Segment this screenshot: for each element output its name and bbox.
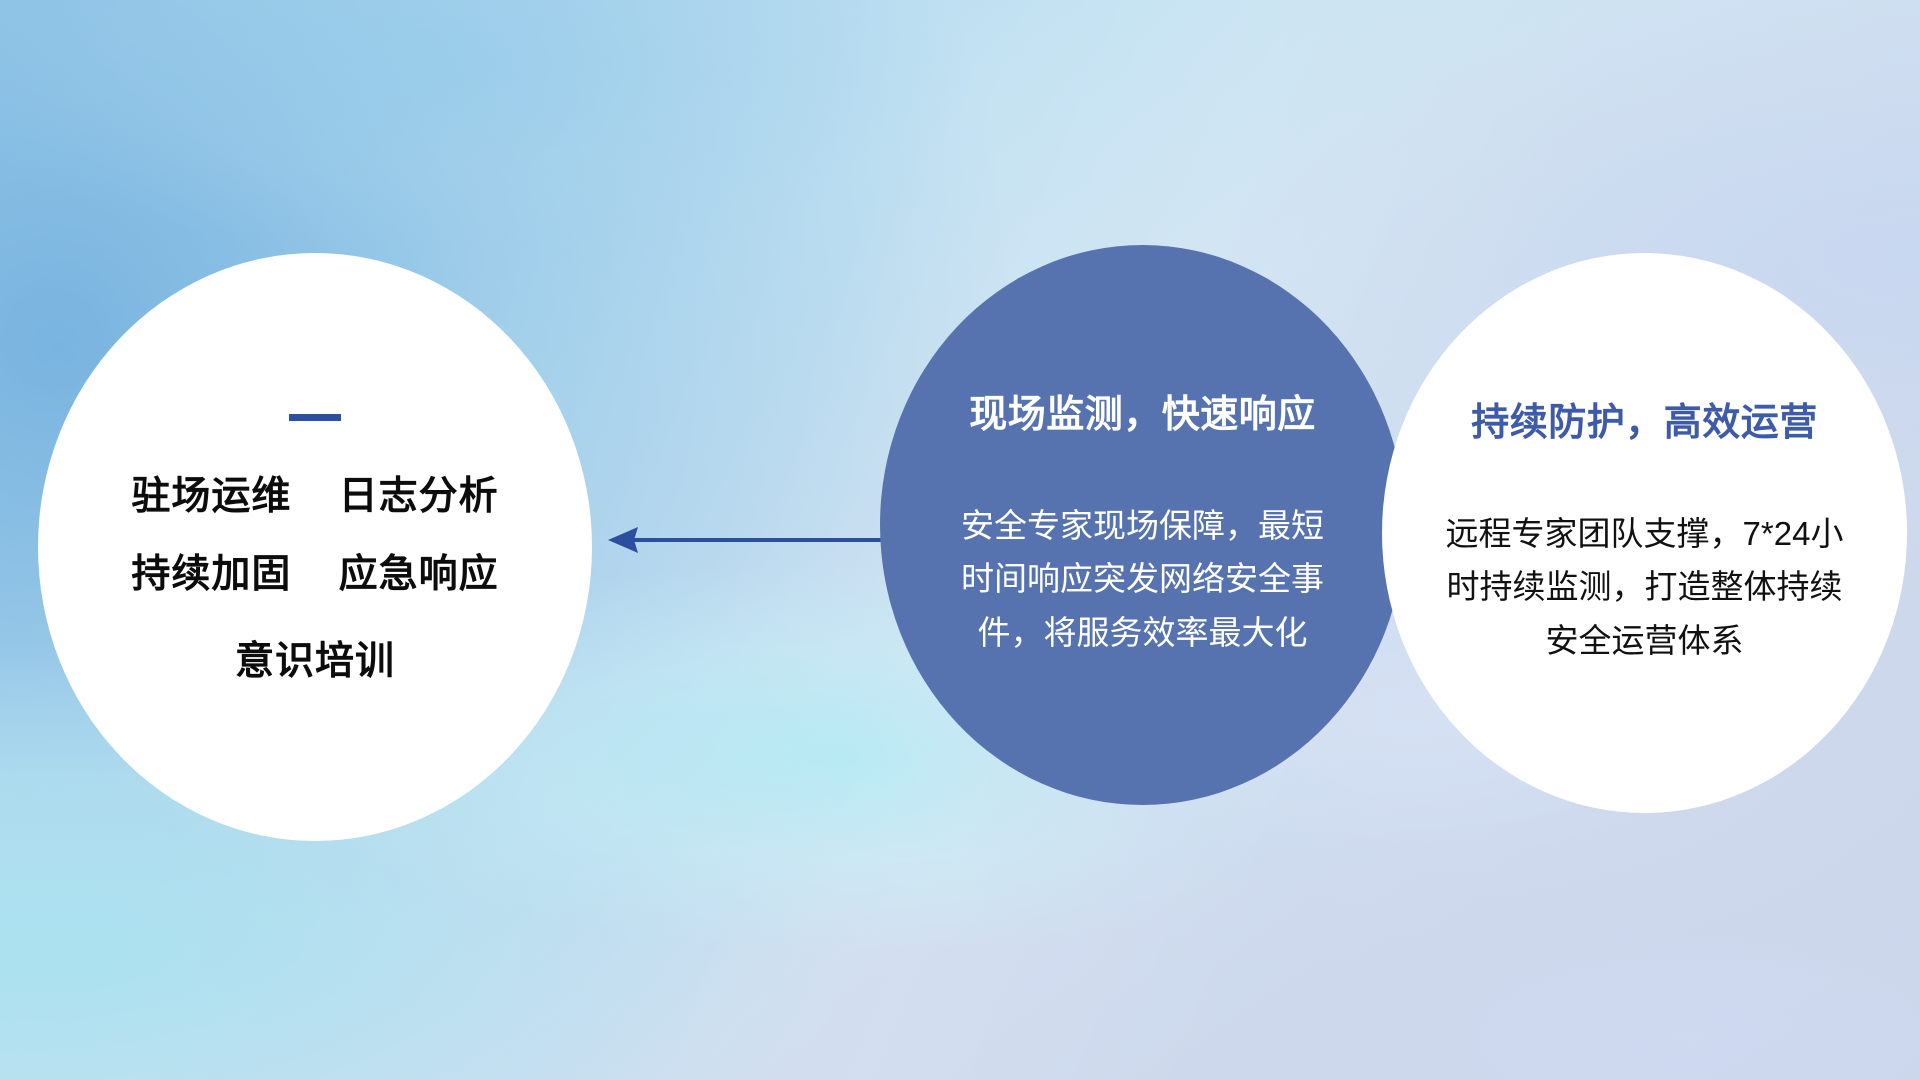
onsite-monitoring-body: 安全专家现场保障，最短时间响应突发网络安全事件，将服务效率最大化 [953, 499, 1333, 659]
continuous-protection-title: 持续防护，高效运营 [1471, 403, 1818, 445]
capability-line-2: 持续加固 应急响应 [131, 555, 498, 594]
onsite-monitoring-bubble[interactable]: 现场监测，快速响应 安全专家现场保障，最短时间响应突发网络安全事件，将服务效率最… [880, 245, 1405, 805]
capability-line-1: 驻场运维 日志分析 [131, 477, 498, 516]
capability-line-3: 意识培训 [235, 642, 395, 681]
slide-canvas: 驻场运维 日志分析 持续加固 应急响应 意识培训 现场监测，快速响应 安全专家现… [0, 0, 1920, 1080]
leftward-arrow-icon [600, 500, 920, 580]
onsite-monitoring-title: 现场监测，快速响应 [969, 395, 1316, 437]
capability-tags-bubble[interactable]: 驻场运维 日志分析 持续加固 应急响应 意识培训 [38, 253, 592, 841]
continuous-protection-bubble[interactable]: 持续防护，高效运营 远程专家团队支撑，7*24小时持续监测，打造整体持续安全运营… [1382, 253, 1907, 813]
accent-dash-icon [289, 414, 341, 421]
continuous-protection-body: 远程专家团队支撑，7*24小时持续监测，打造整体持续安全运营体系 [1435, 507, 1855, 667]
